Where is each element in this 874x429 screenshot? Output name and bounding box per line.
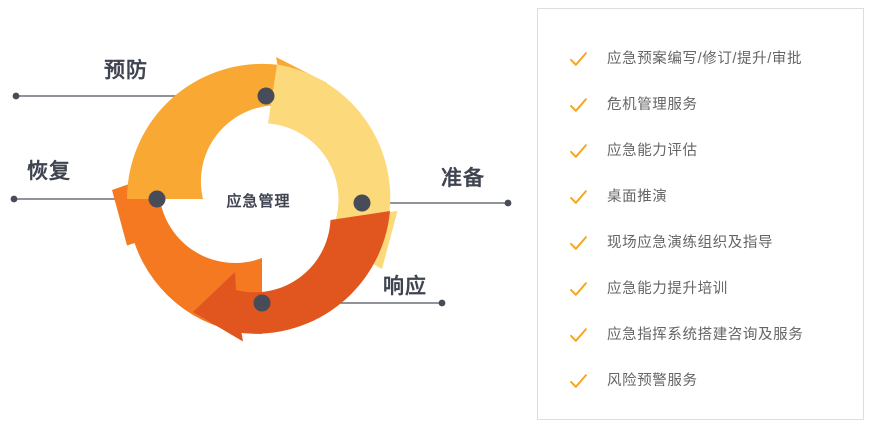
leader-endpoint-response xyxy=(439,300,446,307)
phase-node-recovery[interactable] xyxy=(149,191,166,208)
check-icon xyxy=(569,50,588,69)
list-item-label: 桌面推演 xyxy=(607,190,667,205)
check-icon xyxy=(569,280,588,299)
phase-node-preparation[interactable] xyxy=(354,195,371,212)
list-item[interactable]: 应急能力提升培训 xyxy=(538,266,863,312)
infographic-root: 预防 准备 响应 恢复 应急管理 应急预案编写/修订/提升/审批 危机管理服务 xyxy=(0,0,874,429)
list-item[interactable]: 现场应急演练组织及指导 xyxy=(538,220,863,266)
list-item[interactable]: 应急预案编写/修订/提升/审批 xyxy=(538,36,863,82)
phase-label-response: 响应 xyxy=(383,276,427,297)
phase-node-response[interactable] xyxy=(254,295,271,312)
list-item-label: 危机管理服务 xyxy=(607,98,698,113)
list-item-label: 风险预警服务 xyxy=(607,374,698,389)
phase-label-prevention: 预防 xyxy=(104,60,148,81)
services-list: 应急预案编写/修订/提升/审批 危机管理服务 应急能力评估 桌面推演 xyxy=(538,9,863,404)
leader-endpoint-prevention xyxy=(13,93,20,100)
emergency-management-cycle-diagram: 预防 准备 响应 恢复 应急管理 xyxy=(0,0,525,429)
phase-node-prevention[interactable] xyxy=(258,88,275,105)
list-item-label: 应急预案编写/修订/提升/审批 xyxy=(607,52,802,67)
cycle-arrows-svg xyxy=(0,0,525,429)
list-item[interactable]: 应急指挥系统搭建咨询及服务 xyxy=(538,312,863,358)
leader-endpoint-recovery xyxy=(11,196,18,203)
check-icon xyxy=(569,372,588,391)
check-icon xyxy=(569,326,588,345)
list-item-label: 现场应急演练组织及指导 xyxy=(607,236,773,251)
list-item-label: 应急指挥系统搭建咨询及服务 xyxy=(607,328,803,343)
list-item[interactable]: 危机管理服务 xyxy=(538,82,863,128)
phase-label-recovery: 恢复 xyxy=(27,161,71,182)
list-item[interactable]: 桌面推演 xyxy=(538,174,863,220)
check-icon xyxy=(569,142,588,161)
list-item[interactable]: 应急能力评估 xyxy=(538,128,863,174)
leader-endpoint-preparation xyxy=(505,200,512,207)
check-icon xyxy=(569,96,588,115)
list-item-label: 应急能力评估 xyxy=(607,144,698,159)
list-item-label: 应急能力提升培训 xyxy=(607,282,728,297)
phase-label-preparation: 准备 xyxy=(441,168,485,189)
list-item[interactable]: 风险预警服务 xyxy=(538,358,863,404)
check-icon xyxy=(569,234,588,253)
check-icon xyxy=(569,188,588,207)
services-panel: 应急预案编写/修订/提升/审批 危机管理服务 应急能力评估 桌面推演 xyxy=(537,8,864,420)
